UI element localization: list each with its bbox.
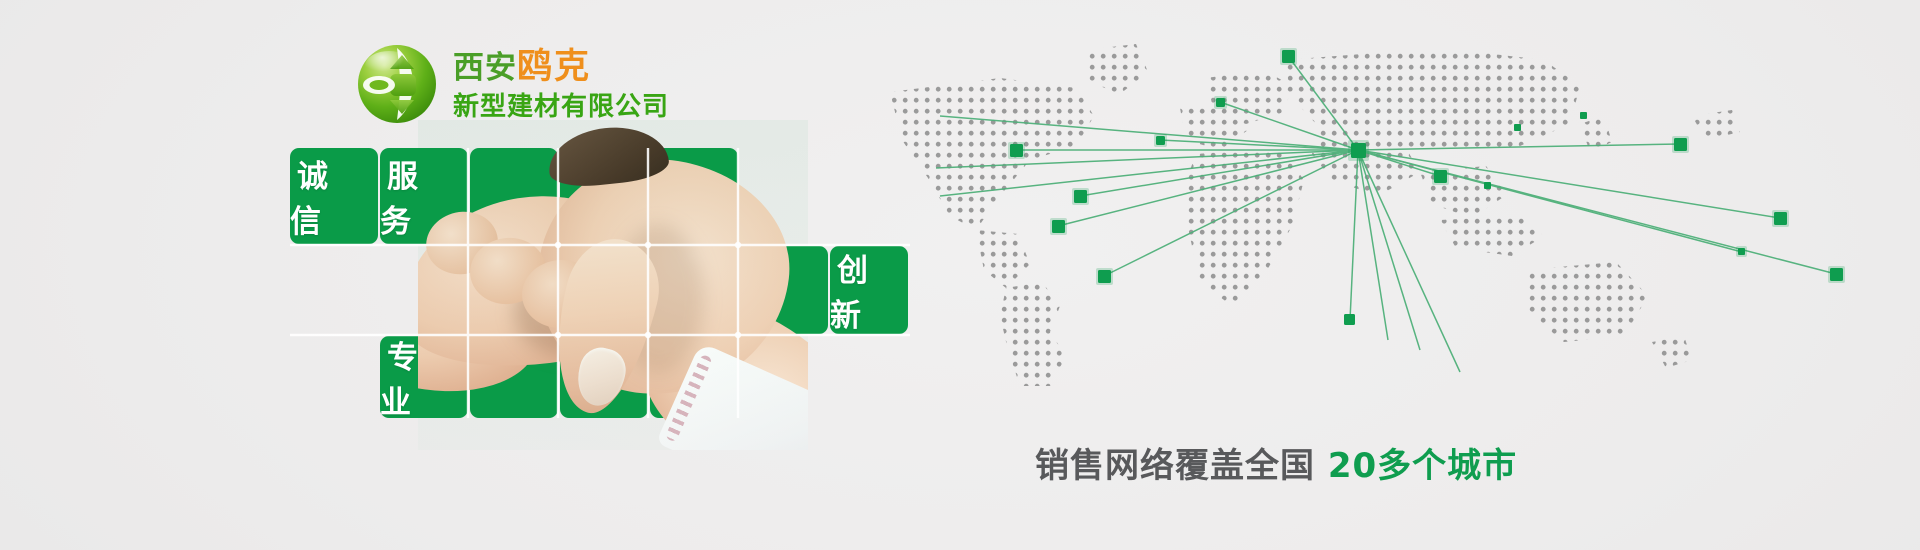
company-banner: 西安鸥克 新型建材有限公司 诚 信 服 务 质 量 创 新 专 业 [0, 0, 1920, 550]
node [1514, 124, 1521, 131]
tile-chengxin[interactable]: 诚 信 [290, 148, 378, 244]
tagline-main: 销售网络覆盖全国 [1035, 446, 1315, 486]
node [1052, 220, 1065, 233]
node [1216, 98, 1225, 107]
network-hub-node [1351, 143, 1366, 158]
node [1830, 268, 1843, 281]
tile-label: 诚 信 [290, 148, 378, 244]
tile-zhuanye[interactable]: 专 业 [380, 336, 468, 418]
node [1580, 112, 1587, 119]
company-city: 西安 [453, 50, 517, 85]
company-name: 西安鸥克 新型建材有限公司 [453, 49, 669, 119]
map-dot-continents [880, 20, 1920, 390]
tile-blank-r1c2[interactable] [470, 246, 558, 334]
company-subtitle: 新型建材有限公司 [453, 93, 669, 119]
tile-label: 专 业 [380, 336, 468, 418]
node [1774, 212, 1787, 225]
company-globe-logo-icon [355, 42, 439, 126]
node [1484, 182, 1491, 189]
tile-zhiliang[interactable]: 质 量 [740, 246, 828, 334]
node [1010, 144, 1023, 157]
tile-fuwu[interactable]: 服 务 [380, 148, 468, 244]
tile-blank-r2c3[interactable] [560, 336, 648, 418]
node [1674, 138, 1687, 151]
node [1344, 314, 1355, 325]
sales-network-world-map [880, 20, 1920, 390]
sales-network-tagline: 销售网络覆盖全国 20多个城市 [1035, 438, 1517, 487]
node [1738, 248, 1745, 255]
value-tile-mosaic: 诚 信 服 务 质 量 创 新 专 业 [290, 148, 910, 418]
tile-blank-r0c3[interactable] [560, 148, 648, 244]
tile-label: 质 量 [740, 246, 828, 334]
tagline-highlight: 20多个城市 [1328, 446, 1517, 486]
tile-blank-r2c2[interactable] [470, 336, 558, 418]
node [1098, 270, 1111, 283]
company-name-line1: 西安鸥克 [453, 49, 669, 84]
tile-label: 服 务 [380, 148, 468, 244]
tile-blank-r1c3[interactable] [560, 246, 648, 334]
node [1282, 50, 1295, 63]
node [1434, 170, 1447, 183]
node [1156, 136, 1165, 145]
company-logo[interactable]: 西安鸥克 新型建材有限公司 [355, 42, 669, 126]
tile-blank-r0c2[interactable] [470, 148, 558, 244]
tile-blank-r1c4[interactable] [650, 246, 738, 334]
tile-blank-r0c4[interactable] [650, 148, 738, 244]
node [1074, 190, 1087, 203]
tile-blank-r2c4[interactable] [650, 336, 738, 418]
company-brand: 鸥克 [517, 47, 591, 86]
